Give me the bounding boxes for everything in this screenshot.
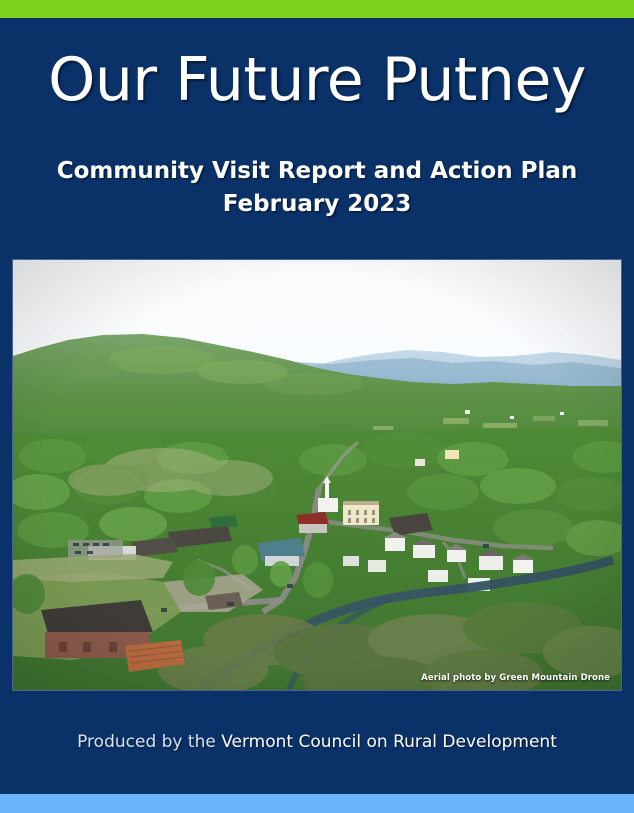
- bottom-accent-bar: [0, 794, 634, 813]
- subtitle-date: February 2023: [0, 188, 634, 221]
- subtitle-block: Community Visit Report and Action Plan F…: [0, 155, 634, 220]
- page-title: Our Future Putney: [0, 50, 634, 110]
- report-cover-page: Our Future Putney Community Visit Report…: [0, 0, 634, 813]
- subtitle-primary: Community Visit Report and Action Plan: [0, 155, 634, 188]
- cover-photograph: Aerial photo by Green Mountain Drone: [13, 260, 621, 690]
- producer-credit: Produced by the Vermont Council on Rural…: [0, 732, 634, 752]
- photo-credit: Aerial photo by Green Mountain Drone: [421, 673, 610, 683]
- title-block: Our Future Putney: [0, 50, 634, 110]
- top-accent-bar: [0, 0, 634, 18]
- photo-vignette: [13, 260, 621, 690]
- producer-lead-text: Produced by the: [77, 732, 221, 752]
- aerial-village-illustration: [13, 260, 621, 690]
- producer-organization: Vermont Council on Rural Development: [221, 732, 557, 752]
